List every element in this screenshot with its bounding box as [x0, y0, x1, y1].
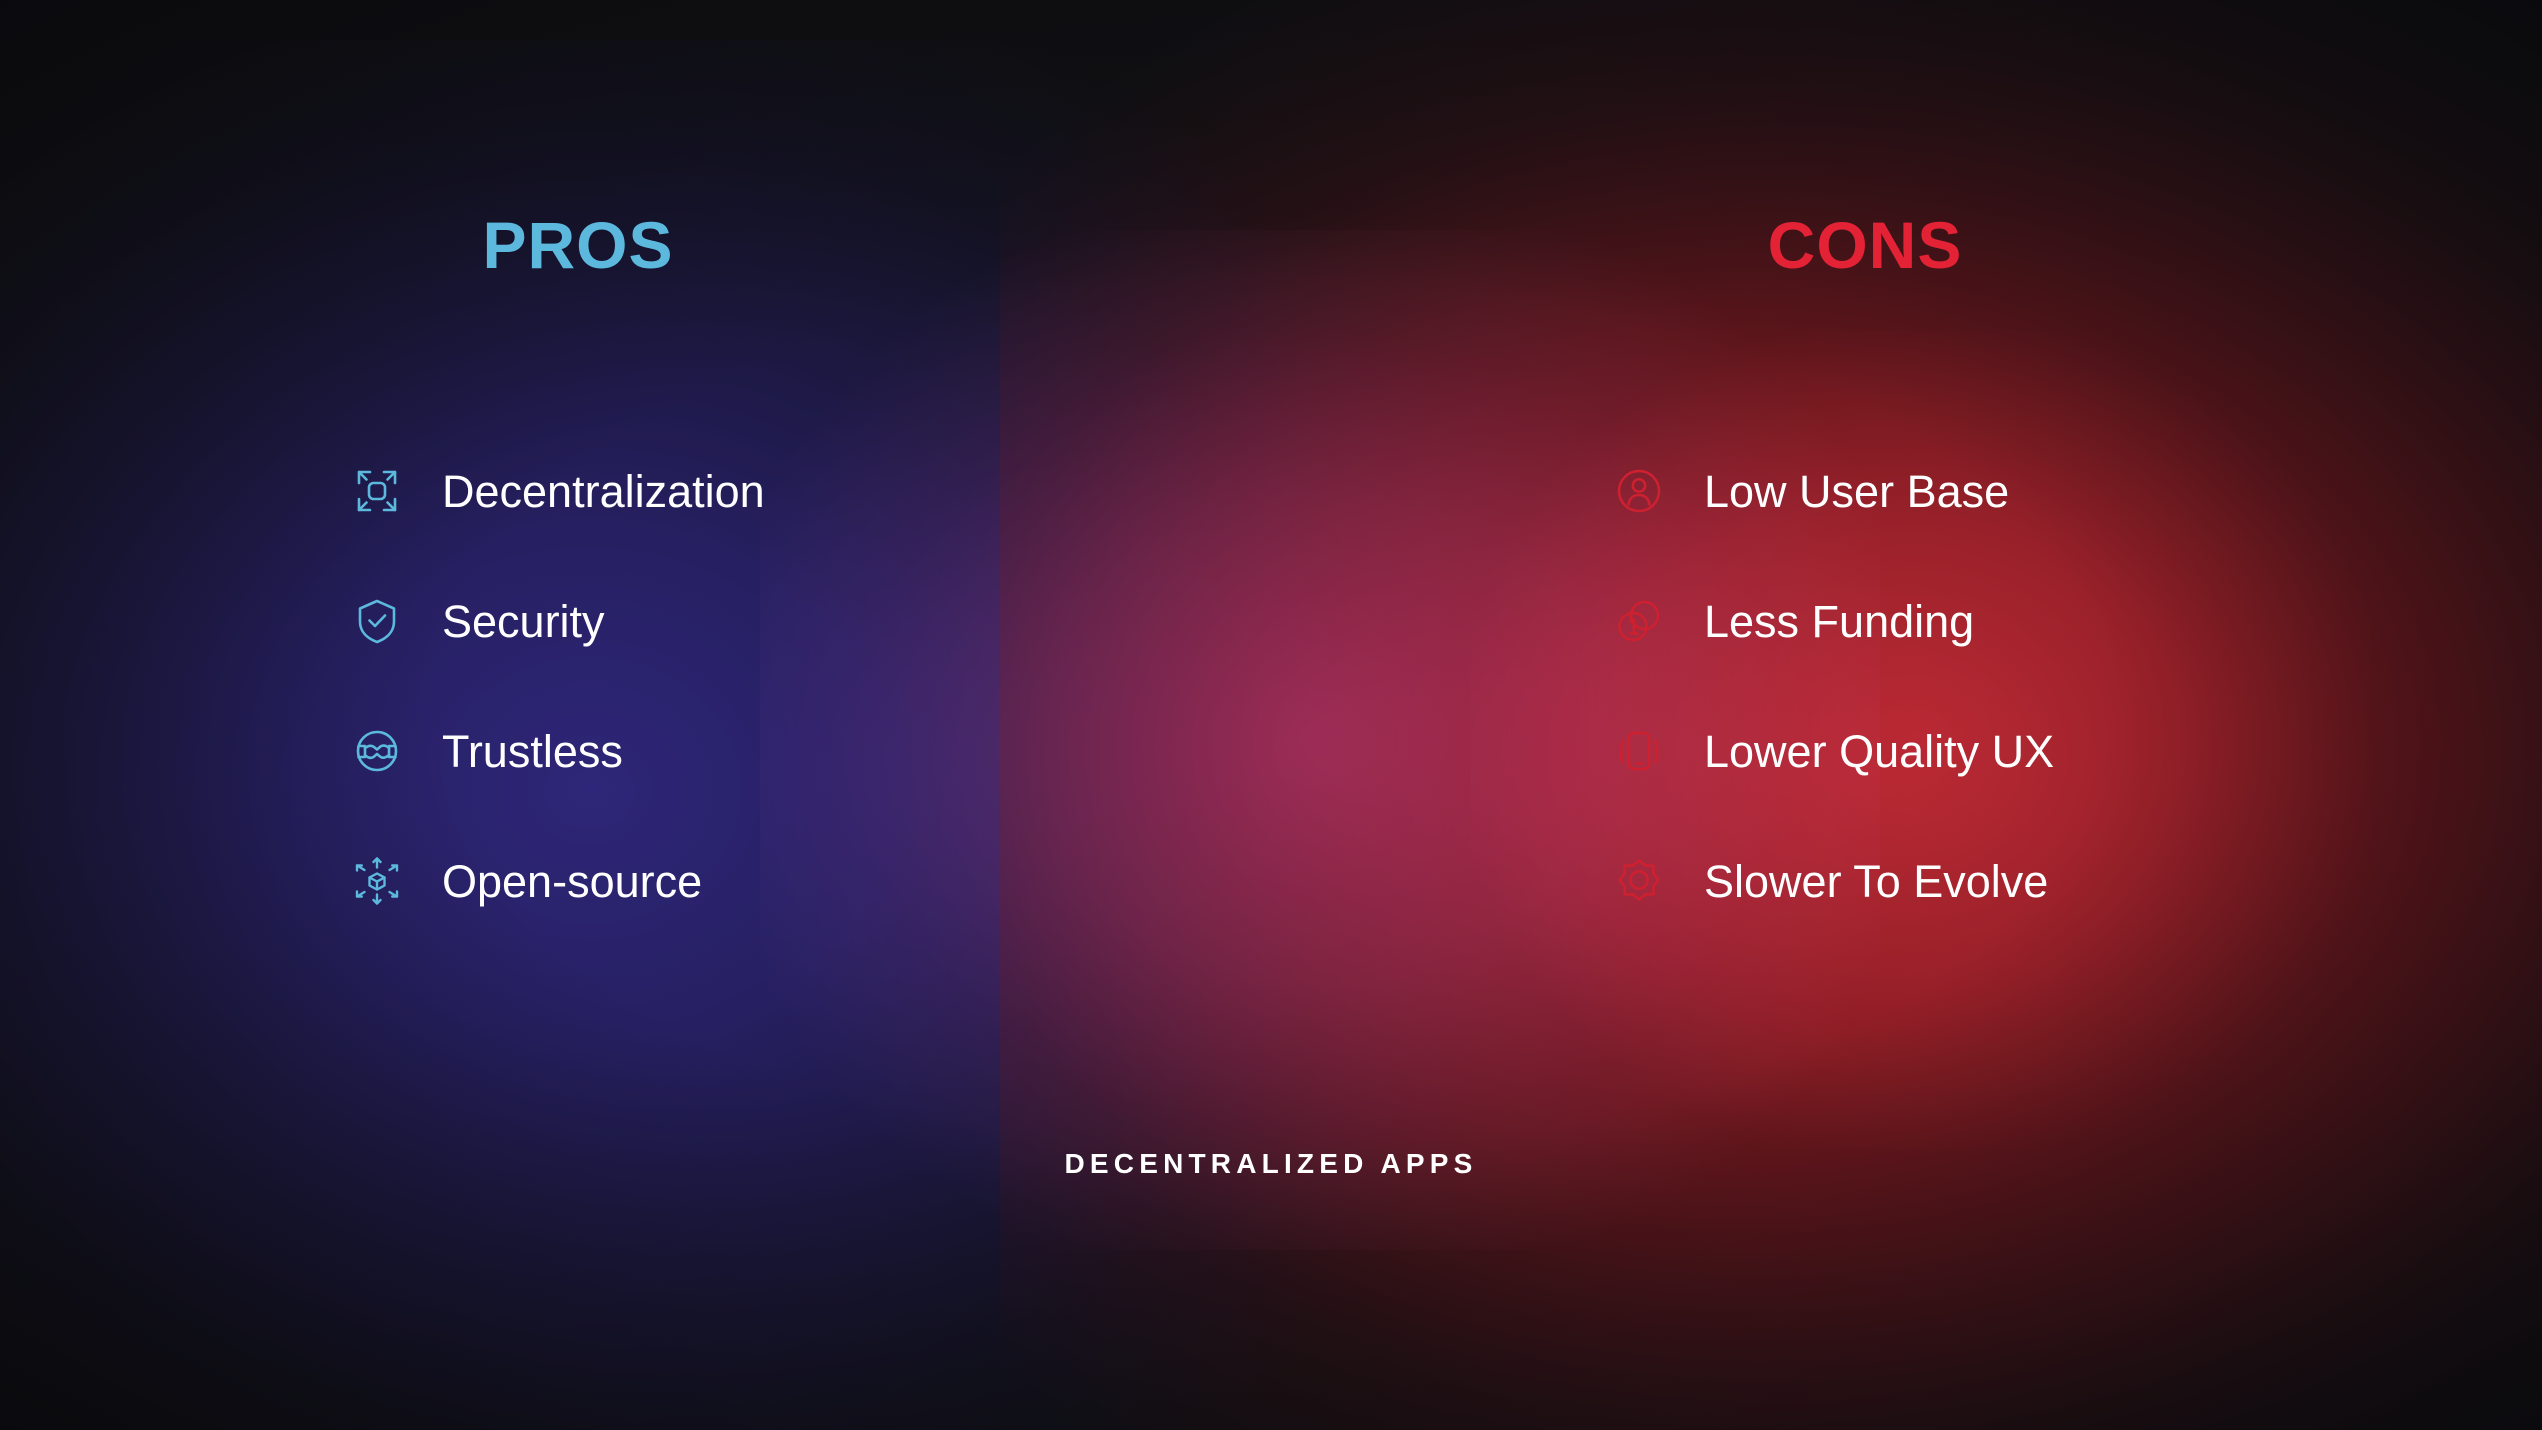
list-item-less-funding: Less Funding	[1420, 556, 2420, 686]
list-item-trustless: Trustless	[130, 686, 1130, 816]
list-item-label: Trustless	[442, 729, 623, 774]
list-item-lower-quality-ux: Lower Quality UX	[1420, 686, 2420, 816]
list-item-slower-to-evolve: Slower To Evolve	[1420, 816, 2420, 946]
list-item-label: Low User Base	[1704, 469, 2009, 514]
user-circle-icon	[1612, 464, 1666, 518]
cons-column: CONS Low User Base	[1420, 0, 2420, 962]
list-item-label: Less Funding	[1704, 599, 1974, 644]
slide-caption: DECENTRALIZED APPS	[0, 1148, 2542, 1180]
pros-heading: PROS	[328, 212, 828, 278]
comparison-columns: PROS	[0, 0, 2542, 1040]
list-item-label: Lower Quality UX	[1704, 729, 2054, 774]
list-item-open-source: Open-source	[130, 816, 1130, 946]
list-item-decentralization: Decentralization	[130, 426, 1130, 556]
expand-arrows-icon	[350, 464, 404, 518]
pros-column: PROS	[130, 0, 1130, 962]
coins-icon	[1612, 594, 1666, 648]
pros-list: Decentralization Security	[130, 426, 1130, 946]
list-item-label: Open-source	[442, 859, 702, 904]
shield-check-icon	[350, 594, 404, 648]
list-item-low-user-base: Low User Base	[1420, 426, 2420, 556]
slide-canvas: PROS	[0, 0, 2542, 1430]
cube-distribute-icon	[350, 854, 404, 908]
cons-list: Low User Base Less Funding	[1420, 426, 2420, 946]
list-item-label: Slower To Evolve	[1704, 859, 2048, 904]
cons-heading: CONS	[1615, 212, 2115, 278]
list-item-label: Security	[442, 599, 605, 644]
handshake-circle-icon	[350, 724, 404, 778]
gear-icon	[1612, 854, 1666, 908]
phone-vibrate-icon	[1612, 724, 1666, 778]
list-item-label: Decentralization	[442, 469, 765, 514]
list-item-security: Security	[130, 556, 1130, 686]
